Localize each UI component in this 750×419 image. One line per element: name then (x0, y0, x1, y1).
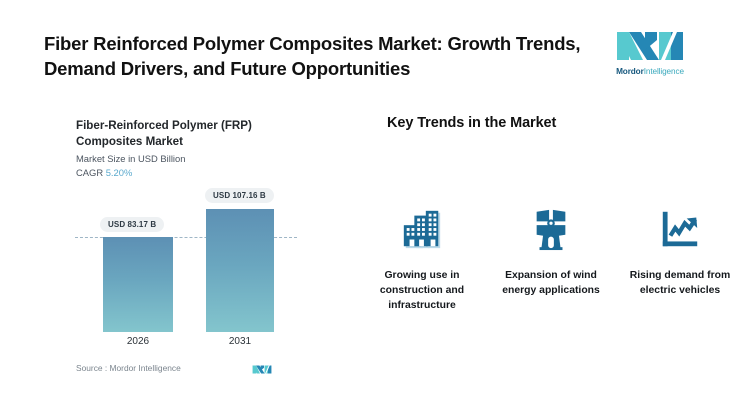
brand-word-primary: Mordor (616, 67, 644, 76)
trend-caption-construction: Growing use in construction and infrastr… (366, 269, 478, 313)
market-size-chart-panel: Fiber-Reinforced Polymer (FRP) Composite… (0, 96, 340, 419)
bar-value-badge-2026: USD 83.17 B (100, 217, 164, 232)
growth-chart-icon (657, 206, 703, 252)
bar-2031 (206, 209, 274, 332)
mordor-intelligence-logo-icon (615, 28, 685, 64)
page-title: Fiber Reinforced Polymer Composites Mark… (44, 31, 589, 81)
key-trends-panel: Key Trends in the Market (340, 96, 750, 419)
buildings-icon (399, 206, 445, 252)
trends-heading: Key Trends in the Market (387, 115, 556, 131)
brand-wordmark: MordorIntelligence (606, 67, 694, 76)
windmill-icon (528, 206, 574, 252)
trend-caption-electric-vehicles: Rising demand from electric vehicles (624, 269, 736, 299)
brand-logo: MordorIntelligence (606, 28, 694, 80)
trend-caption-wind-energy: Expansion of wind energy applications (495, 269, 607, 299)
x-axis-label-2026: 2026 (103, 336, 173, 347)
brand-word-secondary: Intelligence (644, 67, 684, 76)
bar-2026 (103, 237, 173, 332)
mordor-intelligence-mark-icon (252, 362, 272, 373)
trend-item-electric-vehicles: Rising demand from electric vehicles (624, 206, 736, 313)
bar-value-badge-2031: USD 107.16 B (205, 188, 274, 203)
chart-source-row: Source : Mordor Intelligence (76, 362, 286, 376)
page-header: Fiber Reinforced Polymer Composites Mark… (0, 0, 750, 96)
trend-item-wind-energy: Expansion of wind energy applications (495, 206, 607, 313)
trend-item-construction: Growing use in construction and infrastr… (366, 206, 478, 313)
x-axis-label-2031: 2031 (206, 336, 274, 347)
trend-columns: Growing use in construction and infrastr… (366, 206, 736, 313)
chart-source-text: Source : Mordor Intelligence (76, 363, 181, 373)
